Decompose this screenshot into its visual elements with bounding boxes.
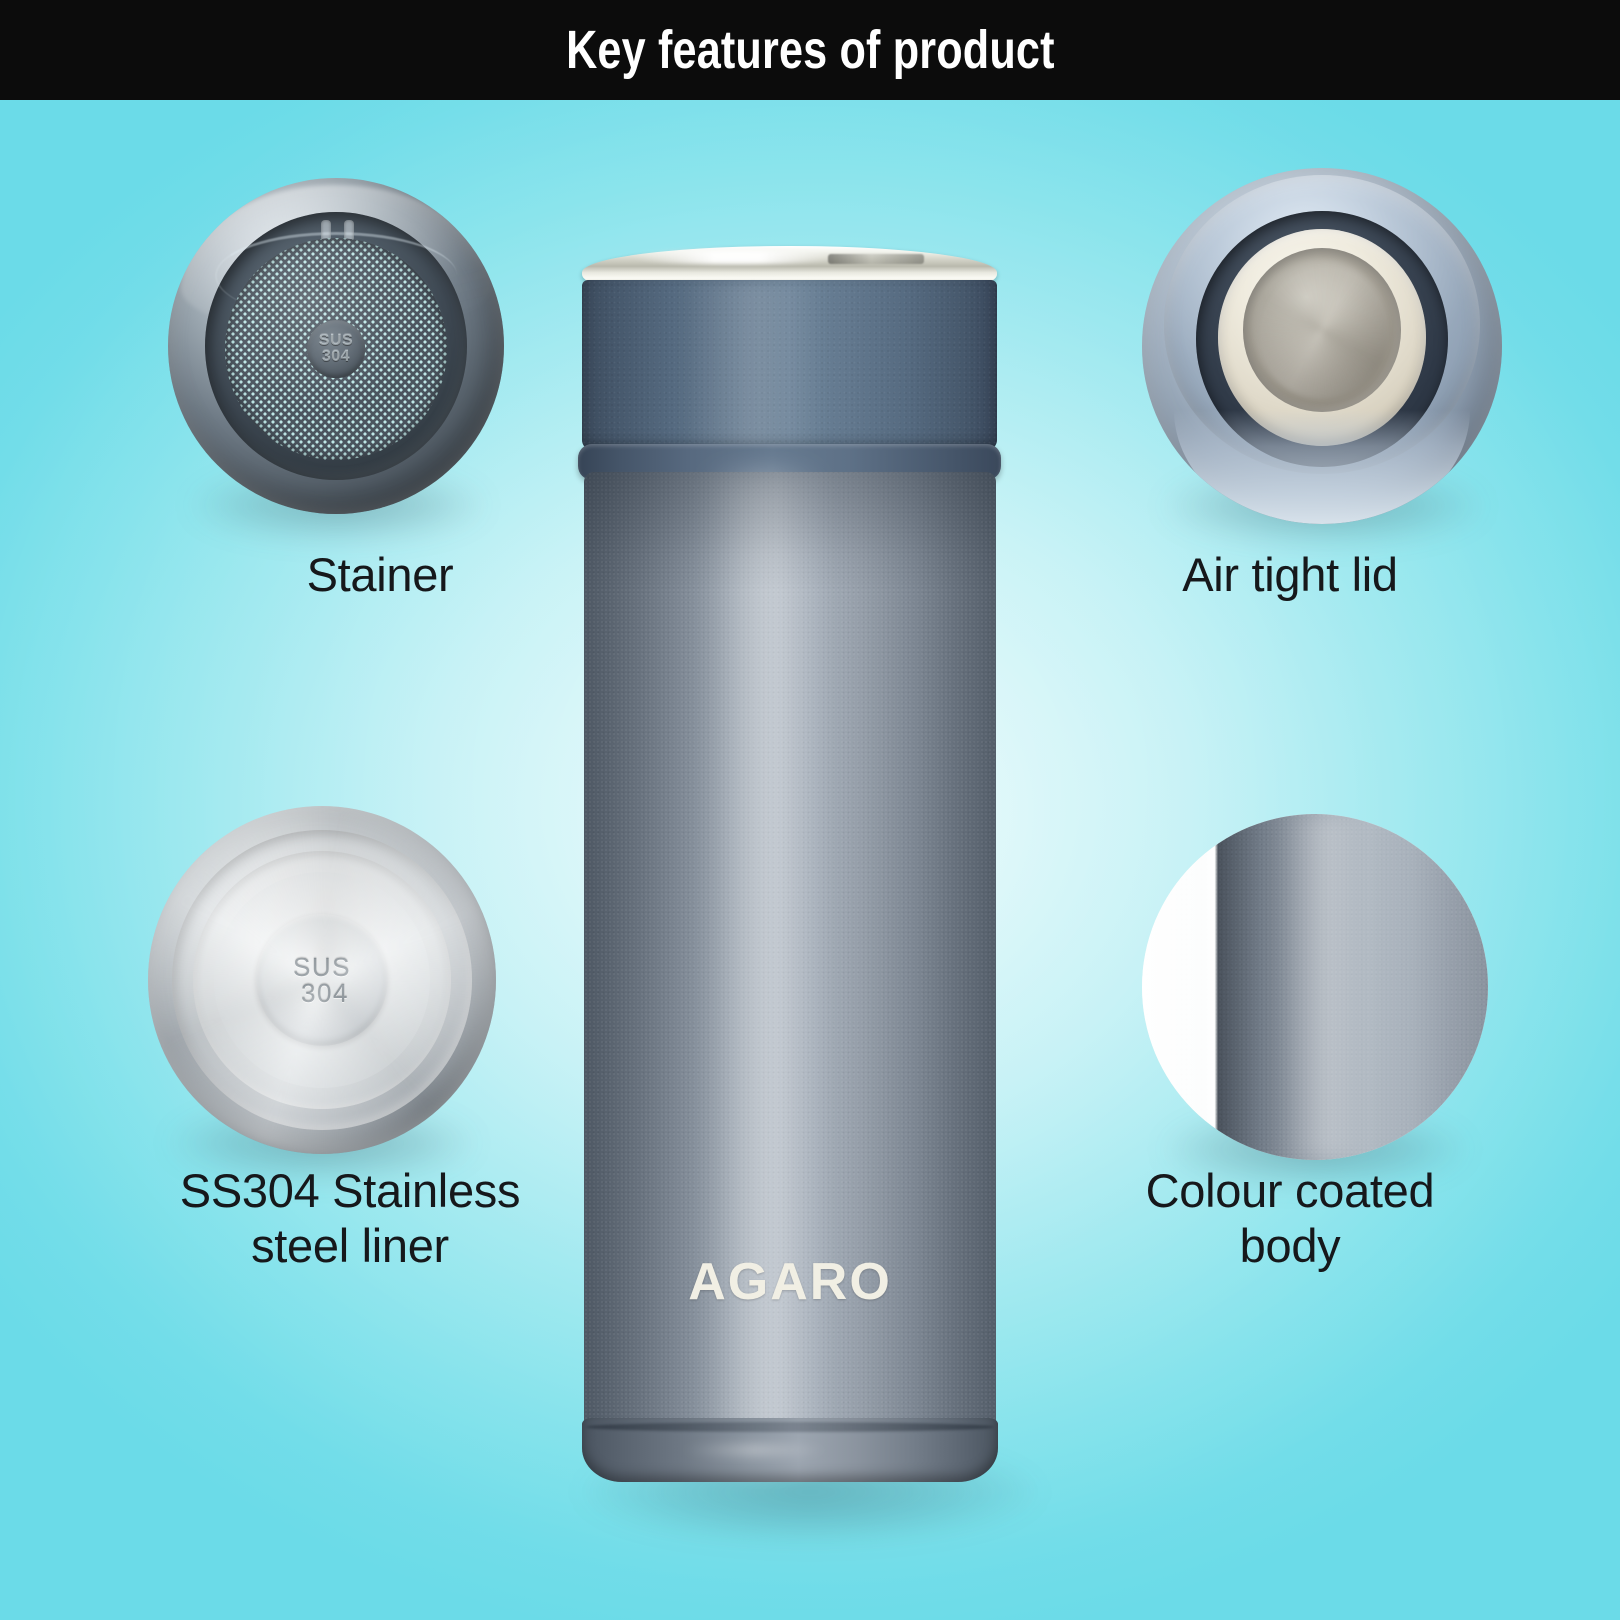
liner-embossed-dome: SUS 304: [256, 914, 388, 1046]
page-title: Key features of product: [566, 19, 1055, 81]
header-banner: Key features of product: [0, 0, 1620, 100]
bottle-body-gloss: [704, 472, 824, 1467]
feature-label-strainer: Stainer: [100, 548, 660, 603]
bottle-chrome-highlight: [630, 250, 840, 264]
air-tight-lid-image: [1142, 168, 1502, 524]
strainer-emboss-line1: SUS: [319, 333, 353, 349]
bottle-base-highlight: [680, 1444, 830, 1456]
feature-label-colour-coated-body-line1: Colour coated: [980, 1164, 1600, 1219]
feature-label-ss304-liner-line2: steel liner: [40, 1219, 660, 1274]
bottle-body: [584, 472, 996, 1467]
feature-label-ss304-liner-line1: SS304 Stainless: [40, 1164, 660, 1219]
ss304-liner-image: SUS 304: [148, 806, 496, 1154]
strainer-emboss-line2: 304: [322, 349, 350, 365]
feature-label-air-tight-lid: Air tight lid: [960, 548, 1620, 603]
bottle-lid-sheen: [678, 280, 828, 450]
feature-label-ss304-liner: SS304 Stainless steel liner: [40, 1164, 660, 1273]
colour-coated-body-image: [1142, 814, 1488, 1160]
strainer-embossed-hub: SUS 304: [307, 321, 365, 379]
bottle-lid-band: [582, 280, 997, 450]
bottle-chrome-marking: [828, 254, 924, 264]
feature-label-colour-coated-body: Colour coated body: [980, 1164, 1600, 1273]
strainer-mesh-disc: SUS 304: [225, 238, 447, 460]
coated-gloss-highlight: [1280, 814, 1370, 1160]
product-bottle-image: AGARO: [560, 222, 1060, 1552]
bottle-base-seam: [586, 1422, 994, 1432]
strainer-image: SUS 304: [168, 178, 504, 514]
liner-emboss-line1: SUS: [293, 953, 351, 980]
lid-steel-dome: [1243, 248, 1401, 412]
feature-label-colour-coated-body-line2: body: [980, 1219, 1600, 1274]
liner-emboss-line2: 304: [301, 980, 349, 1007]
